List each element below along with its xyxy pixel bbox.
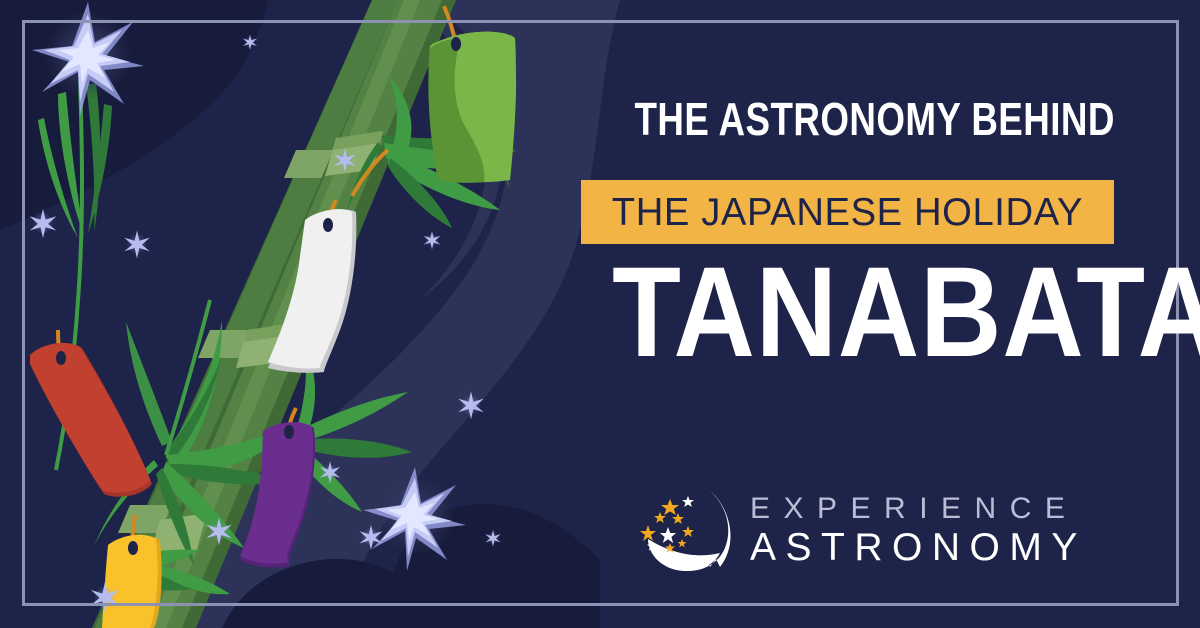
headline-block: THE ASTRONOMY BEHIND — [580, 96, 1125, 142]
brand-name-astronomy: ASTRONOMY — [750, 526, 1087, 570]
brand-logo[interactable]: EXPERIENCE ASTRONOMY — [640, 485, 1060, 577]
page-title: TANABATA — [612, 249, 1084, 377]
subtitle-banner: THE JAPANESE HOLIDAY — [581, 180, 1114, 244]
tanabata-social-banner: THE ASTRONOMY BEHIND THE JAPANESE HOLIDA… — [0, 0, 1200, 628]
eyebrow-text: THE ASTRONOMY BEHIND — [635, 96, 1071, 142]
subtitle-text: THE JAPANESE HOLIDAY — [612, 193, 1083, 232]
crescent-moon-icon — [640, 487, 736, 575]
brand-wordmark: EXPERIENCE ASTRONOMY — [750, 492, 1087, 570]
brand-name-experience: EXPERIENCE — [750, 492, 1087, 526]
